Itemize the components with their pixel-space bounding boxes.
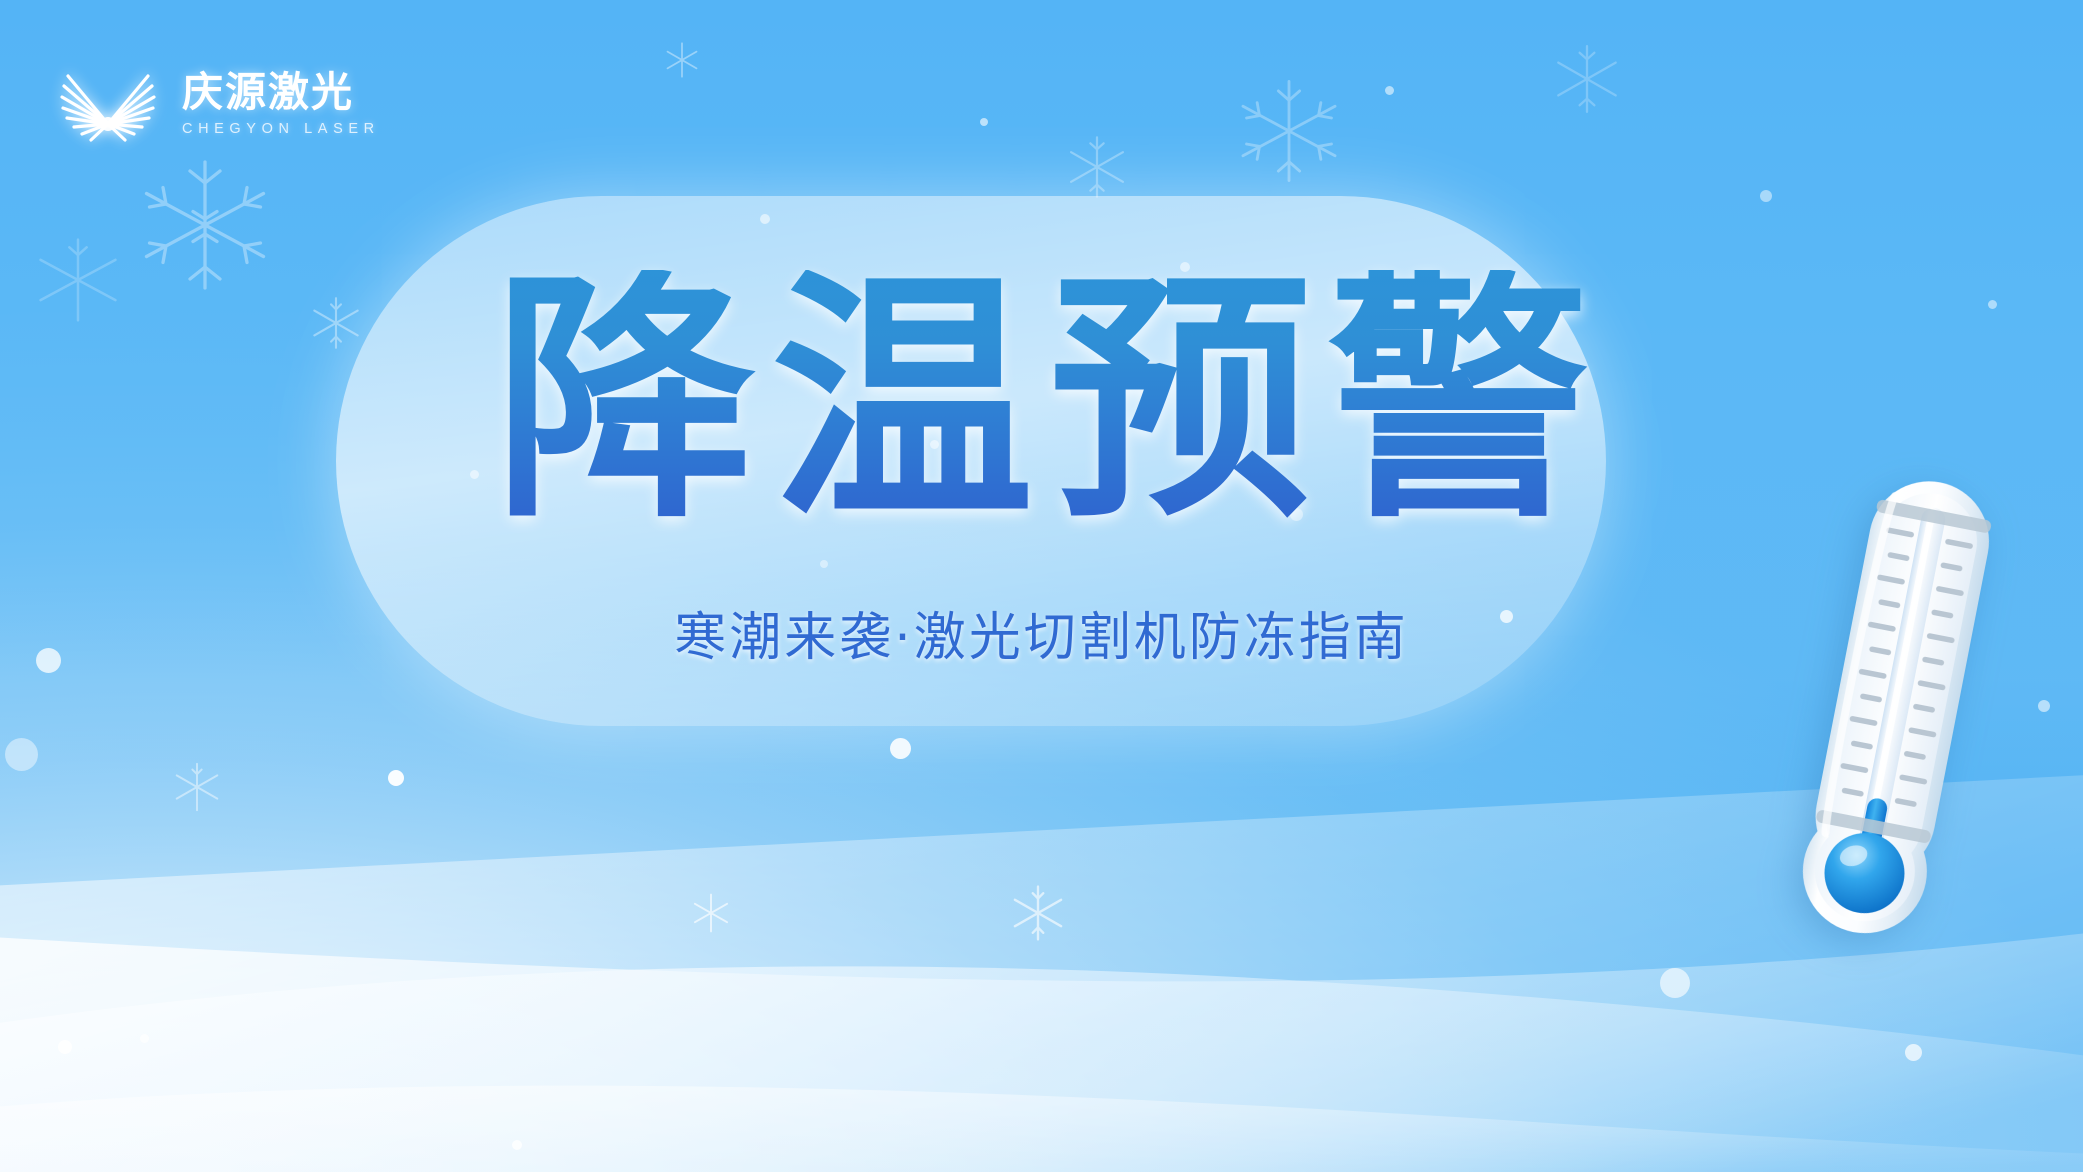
brand-name-cn: 庆源激光 bbox=[182, 71, 380, 114]
thermometer-icon bbox=[1746, 454, 2071, 961]
hero-card-panel bbox=[336, 196, 1606, 726]
snowflake-icon bbox=[1230, 72, 1348, 190]
brand-name-en: CHEGYON LASER bbox=[182, 121, 380, 137]
snowflake-icon bbox=[130, 150, 280, 300]
snow-dot bbox=[2038, 700, 2050, 712]
snow-dot bbox=[890, 738, 911, 759]
snow-dot bbox=[36, 648, 61, 673]
brand-logo[interactable]: 庆源激光 CHEGYON LASER bbox=[48, 58, 380, 150]
snow-dot bbox=[1385, 86, 1394, 95]
snowflake-icon bbox=[1005, 880, 1071, 946]
snowflake-icon bbox=[660, 38, 704, 82]
snow-dot bbox=[1988, 300, 1997, 309]
snow-dot bbox=[1905, 1044, 1922, 1061]
snowflake-icon bbox=[168, 758, 226, 816]
snowflake-icon bbox=[1546, 38, 1628, 120]
snow-dot bbox=[512, 1140, 522, 1150]
wing-burst-logo-icon bbox=[48, 58, 168, 150]
snow-drift-layer-4 bbox=[0, 1022, 2083, 1172]
snow-dot bbox=[980, 118, 988, 126]
snowflake-icon bbox=[688, 890, 734, 936]
snowflake-icon bbox=[1060, 130, 1134, 204]
poster-canvas: 庆源激光 CHEGYON LASER 降温预警 寒潮来袭·激光切割机防冻指南 bbox=[0, 0, 2083, 1172]
snowflake-icon bbox=[305, 292, 367, 354]
snow-dot bbox=[388, 770, 404, 786]
snow-dot bbox=[1760, 190, 1772, 202]
snow-dot bbox=[58, 1040, 72, 1054]
snow-dot bbox=[1660, 968, 1690, 998]
snow-dot bbox=[5, 738, 38, 771]
snowflake-icon bbox=[30, 232, 126, 328]
thermometer-graphic bbox=[1746, 454, 2071, 961]
snow-dot bbox=[140, 1034, 149, 1043]
snow-drift-layer-3 bbox=[0, 922, 2083, 1172]
brand-text-block: 庆源激光 CHEGYON LASER bbox=[182, 71, 380, 137]
